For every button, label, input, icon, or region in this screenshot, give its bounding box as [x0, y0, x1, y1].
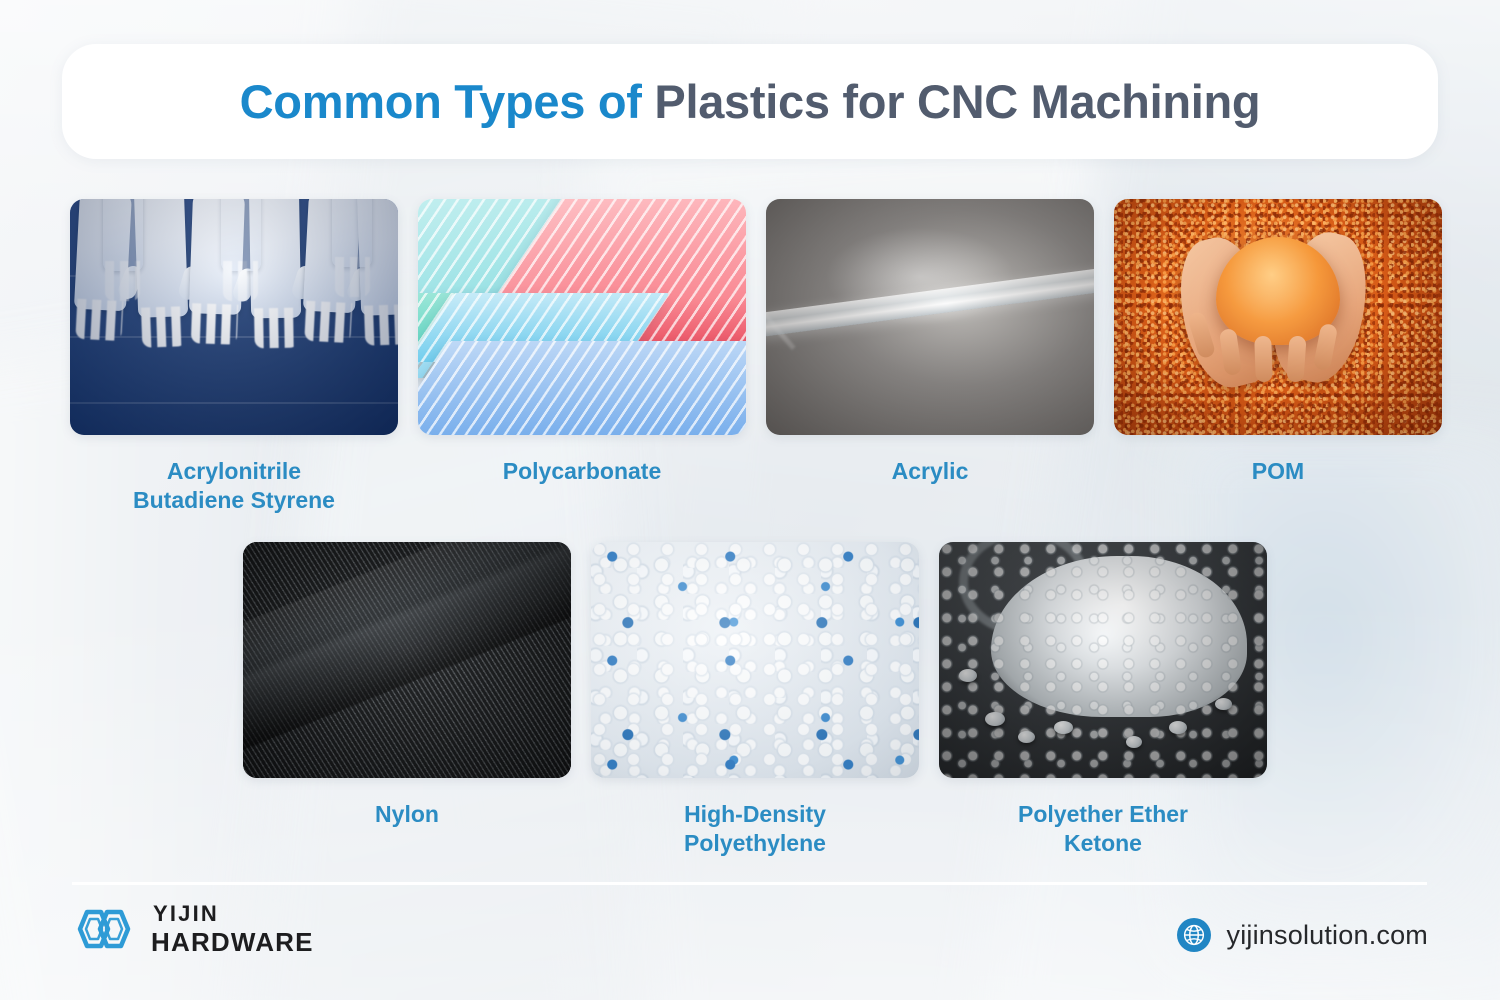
material-card-pom[interactable]: POM: [1114, 199, 1442, 515]
material-card-nylon[interactable]: Nylon: [243, 542, 571, 858]
page-title-accent: Common Types of: [240, 75, 655, 128]
acrylic-sheet-photo: [766, 199, 1094, 435]
abs-gloves-photo: [70, 199, 398, 435]
title-card: Common Types of Plastics for CNC Machini…: [62, 44, 1438, 159]
nylon-fabric-photo: [243, 542, 571, 778]
brand-wordmark: YIJIN HARDWARE: [151, 903, 314, 955]
material-caption-pom: POM: [1252, 457, 1304, 486]
page-title-main: Plastics for CNC Machining: [654, 75, 1260, 128]
globe-icon: [1177, 918, 1211, 952]
brand-name-line1: YIJIN: [153, 903, 314, 925]
page-title: Common Types of Plastics for CNC Machini…: [240, 74, 1261, 129]
material-caption-polycarbonate: Polycarbonate: [503, 457, 662, 486]
material-card-hdpe[interactable]: High-Density Polyethylene: [591, 542, 919, 858]
website-url-text: yijinsolution.com: [1227, 920, 1428, 951]
material-caption-acrylic: Acrylic: [892, 457, 969, 486]
peek-pellets-photo: [939, 542, 1267, 778]
material-card-peek[interactable]: Polyether Ether Ketone: [939, 542, 1267, 858]
material-caption-abs: Acrylonitrile Butadiene Styrene: [133, 457, 335, 515]
card-row-2: Nylon High-Density Polyethylene: [243, 542, 1267, 858]
polycarbonate-sheets-photo: [418, 199, 746, 435]
brand-logo[interactable]: YIJIN HARDWARE: [72, 903, 314, 955]
material-caption-nylon: Nylon: [375, 800, 439, 829]
hdpe-pellets-photo: [591, 542, 919, 778]
material-card-polycarbonate[interactable]: Polycarbonate: [418, 199, 746, 515]
brand-name-line2: HARDWARE: [151, 929, 314, 955]
material-card-acrylic[interactable]: Acrylic: [766, 199, 1094, 515]
yijin-infinity-logo-icon: [72, 906, 136, 952]
footer-divider: [72, 882, 1427, 885]
card-row-1: Acrylonitrile Butadiene Styrene Polycarb…: [70, 199, 1442, 515]
material-card-abs[interactable]: Acrylonitrile Butadiene Styrene: [70, 199, 398, 515]
pom-pellets-photo: [1114, 199, 1442, 435]
website-link[interactable]: yijinsolution.com: [1177, 918, 1428, 952]
material-caption-hdpe: High-Density Polyethylene: [684, 800, 826, 858]
material-caption-peek: Polyether Ether Ketone: [1018, 800, 1188, 858]
